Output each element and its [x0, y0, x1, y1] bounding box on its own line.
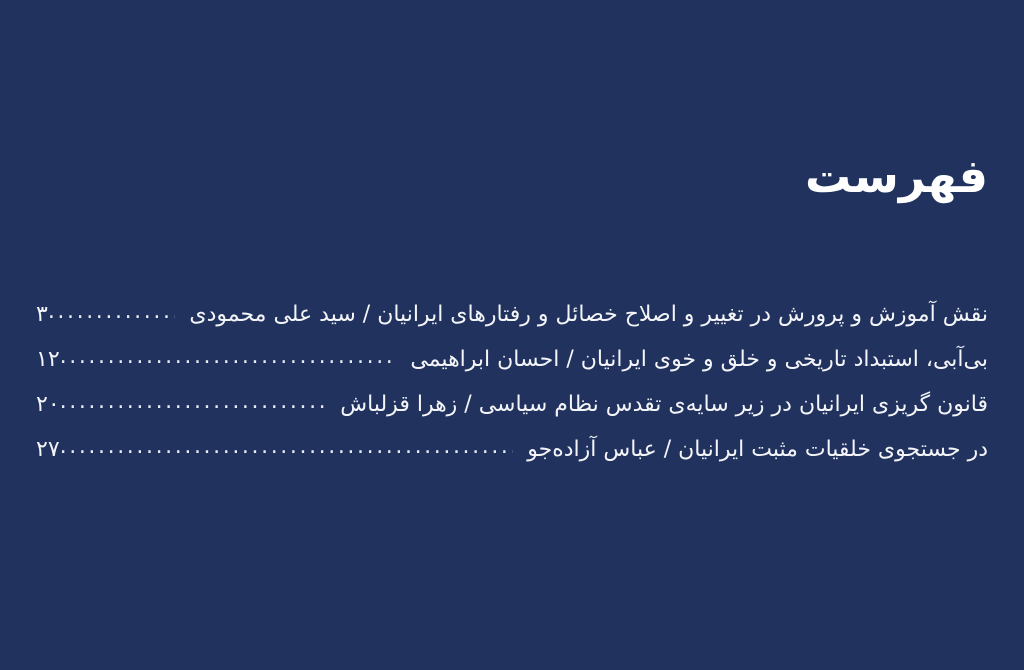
toc-entry-page-number: ۳ [36, 292, 48, 337]
dot-leader [48, 299, 176, 321]
toc-entry-page-number: ۲۰ [36, 382, 60, 427]
toc-entry[interactable]: در جستجوی خلقیات مثبت ایرانیان / عباس آز… [36, 427, 988, 472]
dot-leader [60, 434, 514, 456]
page-title: فهرست [388, 152, 988, 200]
toc-entry-page-number: ۱۲ [36, 337, 60, 382]
toc-page: فهرست نقش آموزش و پرورش در تغییر و اصلاح… [0, 0, 1024, 670]
toc-entry-text: بی‌آبی، استبداد تاریخی و خلق و خوی ایران… [410, 337, 988, 382]
toc-entry-page-number: ۲۷ [36, 427, 60, 472]
toc-entry[interactable]: نقش آموزش و پرورش در تغییر و اصلاح خصائل… [36, 292, 988, 337]
toc-entry-text: در جستجوی خلقیات مثبت ایرانیان / عباس آز… [527, 427, 988, 472]
toc-entry-list: نقش آموزش و پرورش در تغییر و اصلاح خصائل… [36, 292, 988, 472]
toc-entry-text: نقش آموزش و پرورش در تغییر و اصلاح خصائل… [189, 292, 988, 337]
dot-leader [60, 344, 397, 366]
toc-entry[interactable]: قانون گریزی ایرانیان در زیر سایه‌ی تقدس … [36, 382, 988, 427]
toc-entry[interactable]: بی‌آبی، استبداد تاریخی و خلق و خوی ایران… [36, 337, 988, 382]
toc-entry-text: قانون گریزی ایرانیان در زیر سایه‌ی تقدس … [340, 382, 988, 427]
dot-leader [60, 389, 327, 411]
